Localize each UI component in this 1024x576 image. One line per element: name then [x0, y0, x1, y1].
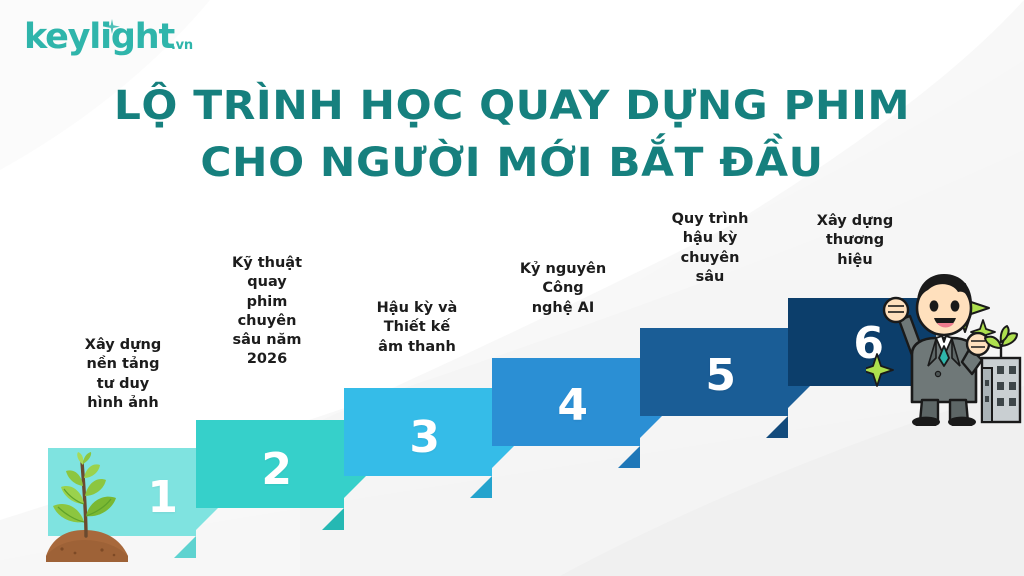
- step-fold-left-5: [640, 416, 662, 438]
- brand-logo[interactable]: keylight .vn: [24, 20, 193, 55]
- step-caption-5: Quy trình hậu kỳ chuyên sâu: [642, 210, 778, 287]
- step-fold-left-2: [196, 508, 218, 530]
- sparkle-icon: [104, 19, 120, 35]
- step-caption-1: Xây dựng nền tảng tư duy hình ảnh: [62, 336, 184, 413]
- step-block-5[interactable]: 5: [640, 328, 788, 416]
- step-fold-right-3: [470, 476, 492, 498]
- step-fold-right-2: [322, 508, 344, 530]
- step-number-3: 3: [409, 416, 440, 460]
- step-fold-right-5: [766, 416, 788, 438]
- step-caption-3: Hậu kỳ và Thiết kế âm thanh: [352, 299, 482, 357]
- step-fold-left-3: [344, 476, 366, 498]
- step-number-2: 2: [261, 448, 292, 492]
- step-caption-4: Kỷ nguyên Công nghệ AI: [496, 260, 630, 318]
- title-line-2: CHO NGƯỜI MỚI BẮT ĐẦU: [0, 135, 1024, 192]
- step-fold-right-1: [174, 536, 196, 558]
- step-block-4[interactable]: 4: [492, 358, 640, 446]
- step-number-4: 4: [557, 384, 588, 428]
- step-number-5: 5: [705, 354, 736, 398]
- step-caption-2: Kỹ thuật quay phim chuyên sâu năm 2026: [205, 254, 329, 370]
- step-number-1: 1: [147, 476, 178, 520]
- step-block-2[interactable]: 2: [196, 420, 344, 508]
- step-block-3[interactable]: 3: [344, 388, 492, 476]
- seedling-plant-icon: [42, 452, 132, 564]
- step-fold-left-4: [492, 446, 514, 468]
- brand-tld: .vn: [171, 38, 193, 53]
- brand-name: keylight: [24, 20, 174, 55]
- step-fold-left-6: [788, 386, 810, 408]
- cheering-businessman-icon: [866, 262, 1024, 426]
- step-fold-right-4: [618, 446, 640, 468]
- title-line-1: LỘ TRÌNH HỌC QUAY DỰNG PHIM: [0, 78, 1024, 135]
- page-title: LỘ TRÌNH HỌC QUAY DỰNG PHIM CHO NGƯỜI MỚ…: [0, 78, 1024, 192]
